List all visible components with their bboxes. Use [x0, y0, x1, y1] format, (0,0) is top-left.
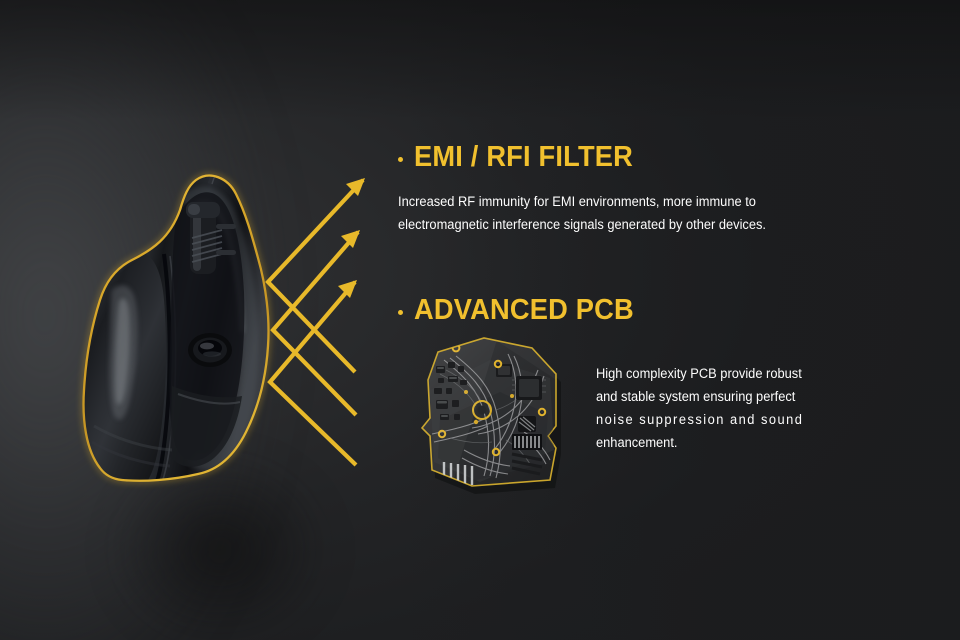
signal-bounce-arrows [250, 160, 390, 490]
bullet-dot-icon [398, 310, 403, 315]
body-line: noise suppression and sound [596, 408, 836, 431]
arrowhead-group [338, 178, 365, 298]
body-emi-rfi-filter: Increased RF immunity for EMI environmen… [398, 190, 825, 236]
body-line: Increased RF immunity for EMI environmen… [398, 190, 825, 213]
body-advanced-pcb: High complexity PCB provide robust and s… [596, 362, 836, 454]
pcb-pin-header [512, 434, 542, 450]
heading-row-pcb: ADVANCED PCB [398, 296, 850, 325]
section-emi-rfi-filter: EMI / RFI FILTER Increased RF immunity f… [398, 143, 850, 236]
bullet-dot-icon [398, 157, 403, 162]
pcb-main-ic [512, 376, 546, 400]
arrowhead-3 [338, 280, 357, 298]
body-line: High complexity PCB provide robust [596, 362, 836, 385]
heading-advanced-pcb: ADVANCED PCB [414, 296, 634, 325]
feature-slide: EMI / RFI FILTER Increased RF immunity f… [0, 0, 960, 640]
background-top-fade [0, 0, 960, 120]
body-wrap-advanced-pcb: High complexity PCB provide robust and s… [596, 362, 846, 454]
pcb-coil [518, 416, 536, 432]
bounce-arrow-2 [273, 232, 358, 415]
body-line: and stable system ensuring perfect [596, 385, 836, 408]
body-line: electromagnetic interference signals gen… [398, 213, 825, 236]
bounce-arrow-1 [268, 180, 363, 372]
section-advanced-pcb: ADVANCED PCB High complexity PCB provide… [398, 296, 850, 325]
body-line: enhancement. [596, 431, 836, 454]
advanced-pcb-image [420, 330, 572, 492]
heading-emi-rfi-filter: EMI / RFI FILTER [414, 143, 633, 172]
heading-row-emi: EMI / RFI FILTER [398, 143, 850, 172]
